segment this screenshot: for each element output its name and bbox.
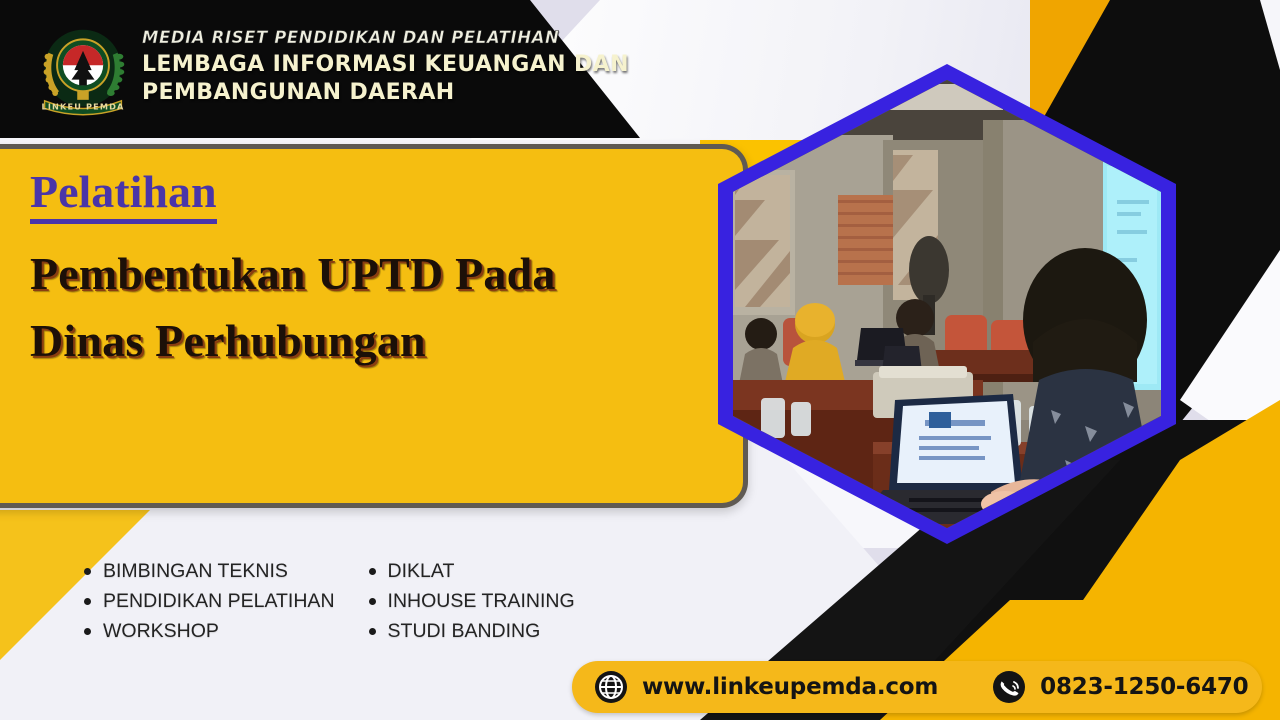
- list-item: WORKSHOP: [84, 616, 335, 646]
- service-label: STUDI BANDING: [388, 616, 541, 646]
- bullet-dot-icon: [369, 568, 376, 575]
- hexagon-photo-frame: [718, 64, 1176, 544]
- list-item: BIMBINGAN TEKNIS: [84, 556, 335, 586]
- phone-icon: [992, 670, 1026, 704]
- bullet-dot-icon: [84, 628, 91, 635]
- header-tagline: MEDIA RISET PENDIDIKAN DAN PELATIHAN: [142, 28, 702, 47]
- services-column-left: BIMBINGAN TEKNIS PENDIDIKAN PELATIHAN WO…: [84, 556, 335, 646]
- globe-icon: [594, 670, 628, 704]
- services-column-right: DIKLAT INHOUSE TRAINING STUDI BANDING: [369, 556, 575, 646]
- linkeu-pemda-emblem-icon: LINKEU PEMDA: [34, 24, 132, 120]
- header-org-line-1: LEMBAGA INFORMASI KEUANGAN DAN: [142, 51, 702, 79]
- service-label: INHOUSE TRAINING: [388, 586, 575, 616]
- bullet-dot-icon: [369, 598, 376, 605]
- services-list: BIMBINGAN TEKNIS PENDIDIKAN PELATIHAN WO…: [84, 556, 704, 646]
- service-label: WORKSHOP: [103, 616, 219, 646]
- svg-text:LINKEU PEMDA: LINKEU PEMDA: [42, 101, 125, 111]
- list-item: INHOUSE TRAINING: [369, 586, 575, 616]
- list-item: STUDI BANDING: [369, 616, 575, 646]
- service-label: BIMBINGAN TEKNIS: [103, 556, 288, 586]
- title-card: Pelatihan Pembentukan UPTD Pada Dinas Pe…: [0, 144, 748, 508]
- service-label: DIKLAT: [388, 556, 455, 586]
- training-kicker: Pelatihan: [30, 169, 217, 224]
- service-label: PENDIDIKAN PELATIHAN: [103, 586, 335, 616]
- training-title-line-2: Dinas Perhubungan: [30, 307, 743, 374]
- poster-canvas: LINKEU PEMDA MEDIA RISET PENDIDIKAN DAN …: [0, 0, 1280, 720]
- bullet-dot-icon: [84, 598, 91, 605]
- contact-bar: www.linkeupemda.com 0823-1250-6470: [572, 661, 1262, 713]
- list-item: PENDIDIKAN PELATIHAN: [84, 586, 335, 616]
- phone-number[interactable]: 0823-1250-6470: [1040, 674, 1248, 700]
- website-url[interactable]: www.linkeupemda.com: [642, 674, 938, 700]
- header-text-block: MEDIA RISET PENDIDIKAN DAN PELATIHAN LEM…: [142, 28, 702, 106]
- list-item: DIKLAT: [369, 556, 575, 586]
- organization-logo: LINKEU PEMDA: [34, 24, 132, 120]
- training-title-line-1: Pembentukan UPTD Pada: [30, 240, 743, 307]
- bullet-dot-icon: [84, 568, 91, 575]
- header-org-line-2: PEMBANGUNAN DAERAH: [142, 79, 702, 107]
- bullet-dot-icon: [369, 628, 376, 635]
